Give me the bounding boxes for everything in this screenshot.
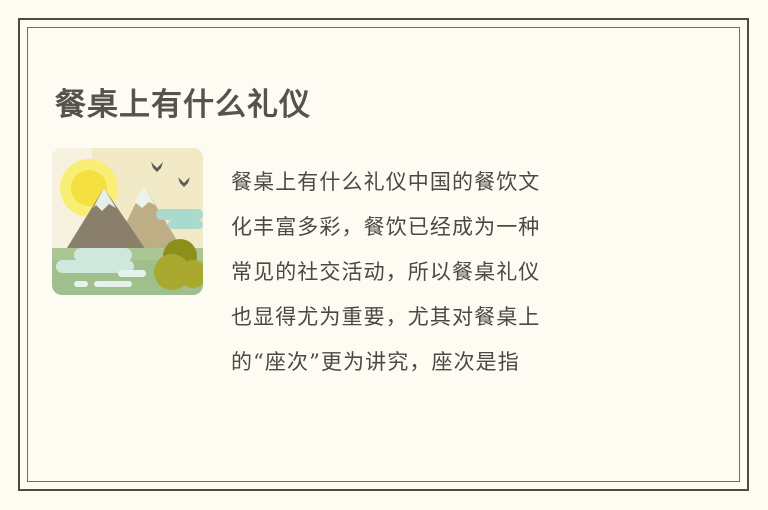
body-line: 餐桌上有什么礼仪中国的餐饮文 — [231, 160, 651, 205]
landscape-illustration-icon — [52, 148, 203, 295]
body-line: 常见的社交活动，所以餐桌礼仪 — [231, 250, 651, 295]
article-thumbnail — [52, 148, 203, 295]
article-body: 餐桌上有什么礼仪中国的餐饮文 化丰富多彩，餐饮已经成为一种 常见的社交活动，所以… — [231, 160, 651, 385]
body-line: 的“座次”更为讲究，座次是指 — [231, 340, 651, 385]
article-content: 餐桌上有什么礼仪 — [0, 0, 768, 510]
page-title: 餐桌上有什么礼仪 — [55, 85, 311, 125]
page-root: 餐桌上有什么礼仪 — [0, 0, 768, 510]
body-line: 也显得尤为重要，尤其对餐桌上 — [231, 295, 651, 340]
body-line: 化丰富多彩，餐饮已经成为一种 — [231, 205, 651, 250]
